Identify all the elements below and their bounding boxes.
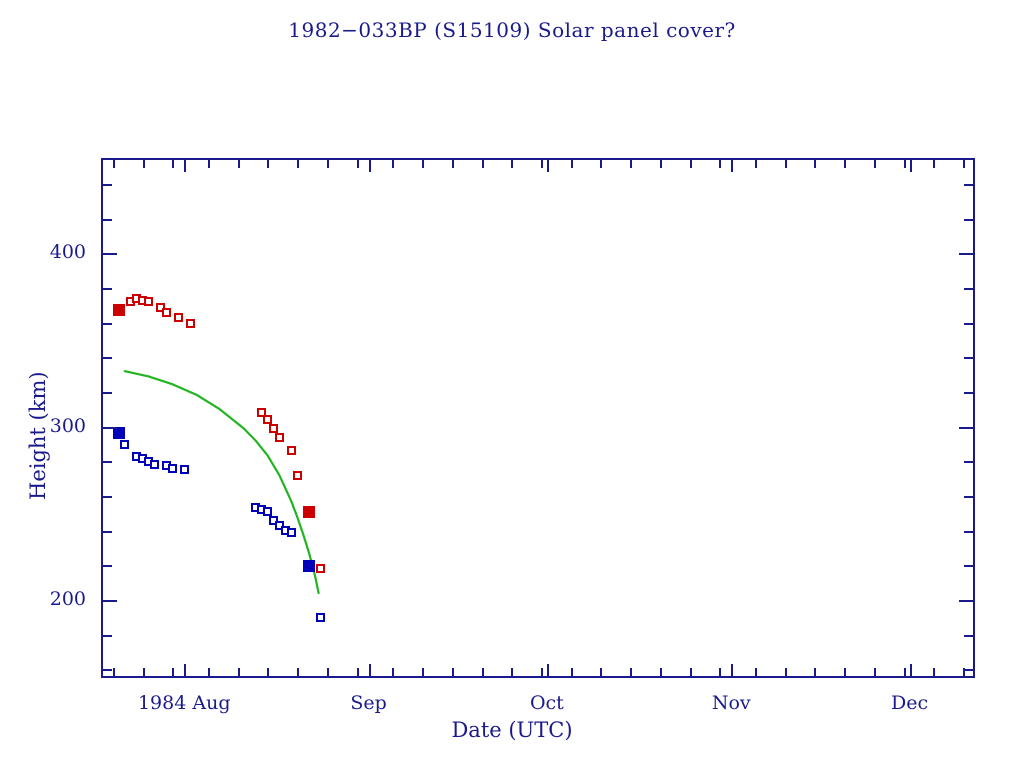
x-minor-tick <box>238 160 240 168</box>
y-minor-tick <box>103 357 112 359</box>
x-minor-tick <box>814 668 816 676</box>
x-minor-tick <box>933 668 935 676</box>
x-minor-tick <box>327 160 329 168</box>
y-tick-label: 400 <box>16 241 86 263</box>
y-minor-tick <box>103 392 112 394</box>
x-minor-tick <box>844 668 846 676</box>
x-minor-tick <box>874 668 876 676</box>
x-minor-tick <box>422 160 424 168</box>
x-minor-tick <box>814 160 816 168</box>
x-minor-tick <box>600 160 602 168</box>
x-minor-tick <box>600 668 602 676</box>
x-minor-tick <box>452 160 454 168</box>
y-minor-tick <box>964 669 973 671</box>
x-minor-tick <box>963 160 965 168</box>
y-minor-tick <box>964 357 973 359</box>
x-minor-tick <box>172 160 174 168</box>
x-minor-tick <box>785 160 787 168</box>
y-minor-tick <box>103 531 112 533</box>
x-minor-tick <box>113 668 115 676</box>
y-major-tick <box>103 600 117 602</box>
y-minor-tick <box>103 565 112 567</box>
x-major-tick <box>184 664 186 676</box>
x-major-tick <box>547 160 549 172</box>
y-minor-tick <box>964 219 973 221</box>
y-minor-tick <box>103 496 112 498</box>
x-axis-title: Date (UTC) <box>0 718 1024 742</box>
y-axis-title: Height (km) <box>26 371 50 500</box>
x-minor-tick <box>785 668 787 676</box>
x-tick-label: 1984 Aug <box>84 692 284 714</box>
x-minor-tick <box>660 160 662 168</box>
x-minor-tick <box>172 668 174 676</box>
x-minor-tick <box>904 668 906 676</box>
y-minor-tick <box>103 669 112 671</box>
x-minor-tick <box>357 668 359 676</box>
x-major-tick <box>369 664 371 676</box>
x-major-tick <box>731 160 733 172</box>
x-minor-tick <box>690 160 692 168</box>
y-tick-label: 200 <box>16 588 86 610</box>
x-minor-tick <box>630 668 632 676</box>
x-minor-tick <box>422 668 424 676</box>
x-minor-tick <box>452 668 454 676</box>
chart-root: 1982−033BP (S15109) Solar panel cover? 2… <box>0 0 1024 768</box>
x-minor-tick <box>392 668 394 676</box>
x-minor-tick <box>113 160 115 168</box>
x-minor-tick <box>963 668 965 676</box>
x-minor-tick <box>267 160 269 168</box>
x-minor-tick <box>357 160 359 168</box>
y-minor-tick <box>964 565 973 567</box>
x-minor-tick <box>297 668 299 676</box>
chart-title: 1982−033BP (S15109) Solar panel cover? <box>0 18 1024 42</box>
x-minor-tick <box>844 160 846 168</box>
x-minor-tick <box>327 668 329 676</box>
x-minor-tick <box>541 160 543 168</box>
x-minor-tick <box>719 668 721 676</box>
x-major-tick <box>910 160 912 172</box>
x-major-tick <box>910 664 912 676</box>
y-minor-tick <box>103 219 112 221</box>
x-minor-tick <box>267 668 269 676</box>
y-major-tick <box>959 600 973 602</box>
x-major-tick <box>731 664 733 676</box>
x-minor-tick <box>208 668 210 676</box>
y-minor-tick <box>964 288 973 290</box>
y-minor-tick <box>964 461 973 463</box>
x-minor-tick <box>392 160 394 168</box>
x-minor-tick <box>208 160 210 168</box>
x-minor-tick <box>660 668 662 676</box>
x-minor-tick <box>297 160 299 168</box>
y-minor-tick <box>103 184 112 186</box>
x-major-tick <box>369 160 371 172</box>
x-tick-label: Oct <box>447 692 647 714</box>
x-minor-tick <box>690 668 692 676</box>
x-minor-tick <box>933 160 935 168</box>
y-minor-tick <box>964 635 973 637</box>
x-major-tick <box>184 160 186 172</box>
x-minor-tick <box>571 160 573 168</box>
x-minor-tick <box>482 668 484 676</box>
x-minor-tick <box>143 160 145 168</box>
x-minor-tick <box>143 668 145 676</box>
y-minor-tick <box>964 184 973 186</box>
y-major-tick <box>959 427 973 429</box>
y-minor-tick <box>964 531 973 533</box>
x-minor-tick <box>755 160 757 168</box>
y-minor-tick <box>964 323 973 325</box>
y-minor-tick <box>103 461 112 463</box>
x-minor-tick <box>511 668 513 676</box>
x-tick-label: Dec <box>810 692 1010 714</box>
x-minor-tick <box>511 160 513 168</box>
y-major-tick <box>959 253 973 255</box>
y-minor-tick <box>964 392 973 394</box>
y-minor-tick <box>103 288 112 290</box>
y-minor-tick <box>964 496 973 498</box>
x-minor-tick <box>904 160 906 168</box>
y-major-tick <box>103 427 117 429</box>
x-minor-tick <box>874 160 876 168</box>
x-minor-tick <box>482 160 484 168</box>
x-minor-tick <box>541 668 543 676</box>
x-minor-tick <box>755 668 757 676</box>
x-major-tick <box>547 664 549 676</box>
y-minor-tick <box>103 323 112 325</box>
y-major-tick <box>103 253 117 255</box>
x-tick-label: Sep <box>269 692 469 714</box>
x-minor-tick <box>238 668 240 676</box>
x-minor-tick <box>719 160 721 168</box>
plot-frame <box>101 158 975 678</box>
x-tick-label: Nov <box>631 692 831 714</box>
y-minor-tick <box>103 635 112 637</box>
x-minor-tick <box>630 160 632 168</box>
x-minor-tick <box>571 668 573 676</box>
